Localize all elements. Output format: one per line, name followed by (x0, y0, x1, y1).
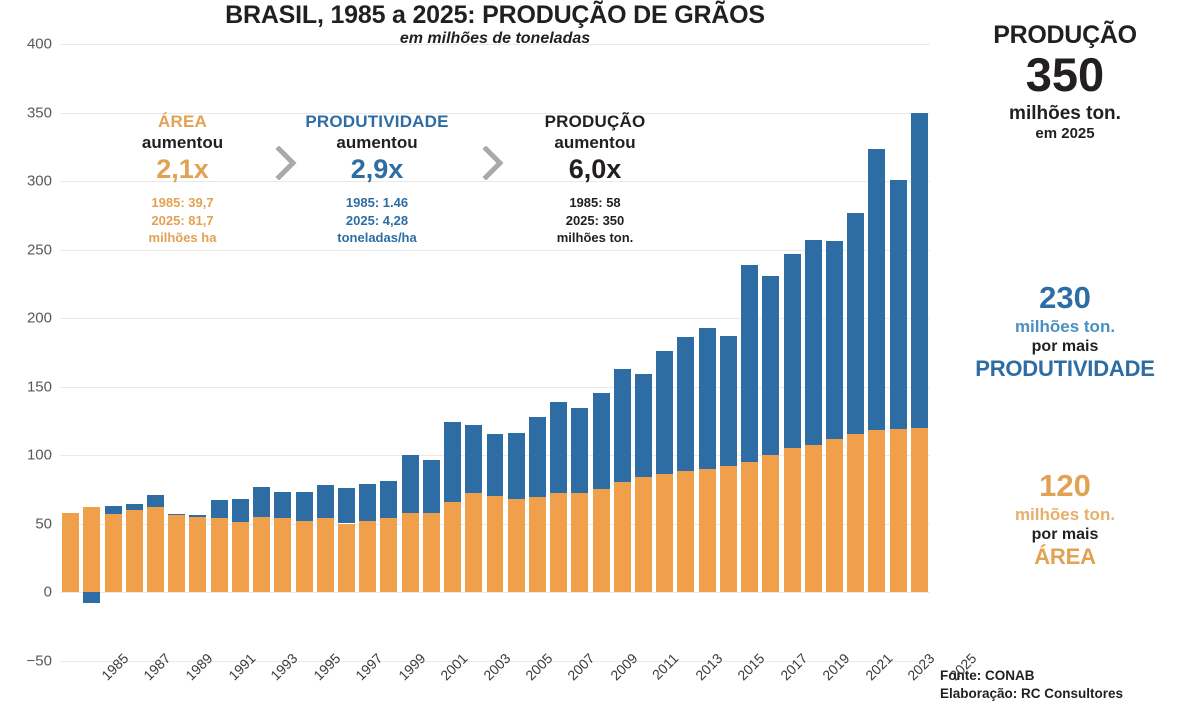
callout-details: 1985: 1.462025: 4,28toneladas/ha (277, 194, 477, 247)
right-summary-panel: PRODUÇÃO 350 milhões ton. em 2025 230 mi… (930, 0, 1200, 719)
callout-heading: PRODUTIVIDADE (277, 112, 477, 132)
callout-detail-1: 1985: 39,7 (95, 194, 270, 212)
x-tick-label: 2005 (522, 650, 555, 683)
production-title: PRODUÇÃO (930, 22, 1200, 50)
callout-multiplier: 2,9x (277, 154, 477, 185)
x-tick-label: 2001 (437, 650, 470, 683)
production-unit: milhões ton. (930, 103, 1200, 125)
callout-details: 1985: 39,72025: 81,7milhões ha (95, 194, 270, 247)
area-unit: milhões ton. (930, 505, 1200, 525)
production-period: em 2025 (930, 125, 1200, 143)
y-tick-label: 250 (4, 241, 52, 258)
callout-rea: ÁREAaumentou2,1x1985: 39,72025: 81,7milh… (95, 112, 270, 247)
x-tick-label: 2017 (777, 650, 810, 683)
y-tick-label: 200 (4, 310, 52, 327)
productivity-prefix: por mais (930, 338, 1200, 356)
x-tick-label: 2009 (607, 650, 640, 683)
infographic-root: BRASIL, 1985 a 2025: PRODUÇÃO DE GRÃOS e… (0, 0, 1200, 719)
x-tick-label: 1993 (267, 650, 300, 683)
y-tick-label: 350 (4, 104, 52, 121)
y-tick-label: 300 (4, 173, 52, 190)
callout-heading: PRODUÇÃO (495, 112, 695, 132)
callout-detail-3: milhões ton. (495, 229, 695, 247)
x-tick-label: 2003 (480, 650, 513, 683)
summary-area: 120 milhões ton. por mais ÁREA (930, 470, 1200, 570)
callout-detail-3: toneladas/ha (277, 229, 477, 247)
y-axis-tick-labels: −50050100150200250300350400 (0, 0, 52, 719)
x-tick-label: 2019 (819, 650, 852, 683)
callout-multiplier: 6,0x (495, 154, 695, 185)
x-tick-label: 1997 (352, 650, 385, 683)
source-line-1: Fonte: CONAB (940, 667, 1195, 685)
source-line-2: Elaboração: RC Consultores (940, 685, 1195, 703)
x-tick-label: 2013 (692, 650, 725, 683)
area-prefix: por mais (930, 526, 1200, 544)
x-tick-label: 2011 (649, 650, 682, 683)
y-tick-label: −50 (4, 652, 52, 669)
summary-productivity: 230 milhões ton. por mais PRODUTIVIDADE (930, 282, 1200, 382)
x-tick-label: 1989 (183, 650, 216, 683)
y-tick-label: 100 (4, 447, 52, 464)
chart-plot-area: −50050100150200250300350400 198519871989… (0, 0, 930, 719)
x-tick-label: 2007 (565, 650, 598, 683)
chart-subtitle: em milhões de toneladas (60, 30, 930, 48)
callout-subtitle: aumentou (495, 133, 695, 153)
area-value: 120 (930, 470, 1200, 503)
x-tick-label: 1991 (225, 650, 258, 683)
callout-strip: ÁREAaumentou2,1x1985: 39,72025: 81,7milh… (95, 112, 735, 262)
x-tick-label: 1985 (98, 650, 131, 683)
productivity-unit: milhões ton. (930, 317, 1200, 337)
callout-detail-2: 2025: 350 (495, 212, 695, 230)
y-tick-label: 400 (4, 36, 52, 53)
area-category: ÁREA (930, 544, 1200, 569)
productivity-value: 230 (930, 282, 1200, 315)
callout-detail-1: 1985: 1.46 (277, 194, 477, 212)
x-tick-label: 1999 (395, 650, 428, 683)
y-tick-label: 50 (4, 515, 52, 532)
callout-detail-2: 2025: 4,28 (277, 212, 477, 230)
production-value: 350 (930, 51, 1200, 98)
x-tick-label: 1987 (140, 650, 173, 683)
page-title: BRASIL, 1985 a 2025: PRODUÇÃO DE GRÃOS (60, 2, 930, 28)
callout-detail-2: 2025: 81,7 (95, 212, 270, 230)
callout-detail-1: 1985: 58 (495, 194, 695, 212)
callout-detail-3: milhões ha (95, 229, 270, 247)
callout-multiplier: 2,1x (95, 154, 270, 185)
callout-subtitle: aumentou (95, 133, 270, 153)
productivity-category: PRODUTIVIDADE (930, 356, 1200, 381)
x-tick-label: 1995 (310, 650, 343, 683)
source-note: Fonte: CONAB Elaboração: RC Consultores (940, 667, 1195, 703)
summary-production: PRODUÇÃO 350 milhões ton. em 2025 (930, 22, 1200, 143)
callout-produo: PRODUÇÃOaumentou6,0x1985: 582025: 350mil… (495, 112, 695, 247)
x-tick-label: 2021 (862, 650, 895, 683)
x-tick-label: 2015 (734, 650, 767, 683)
y-tick-label: 0 (4, 584, 52, 601)
callout-details: 1985: 582025: 350milhões ton. (495, 194, 695, 247)
y-tick-label: 150 (4, 378, 52, 395)
callout-subtitle: aumentou (277, 133, 477, 153)
x-axis-tick-labels: 1985198719891991199319951997199920012003… (60, 0, 930, 719)
callout-heading: ÁREA (95, 112, 270, 132)
callout-produtividade: PRODUTIVIDADEaumentou2,9x1985: 1.462025:… (277, 112, 477, 247)
title-block: BRASIL, 1985 a 2025: PRODUÇÃO DE GRÃOS e… (60, 2, 930, 48)
